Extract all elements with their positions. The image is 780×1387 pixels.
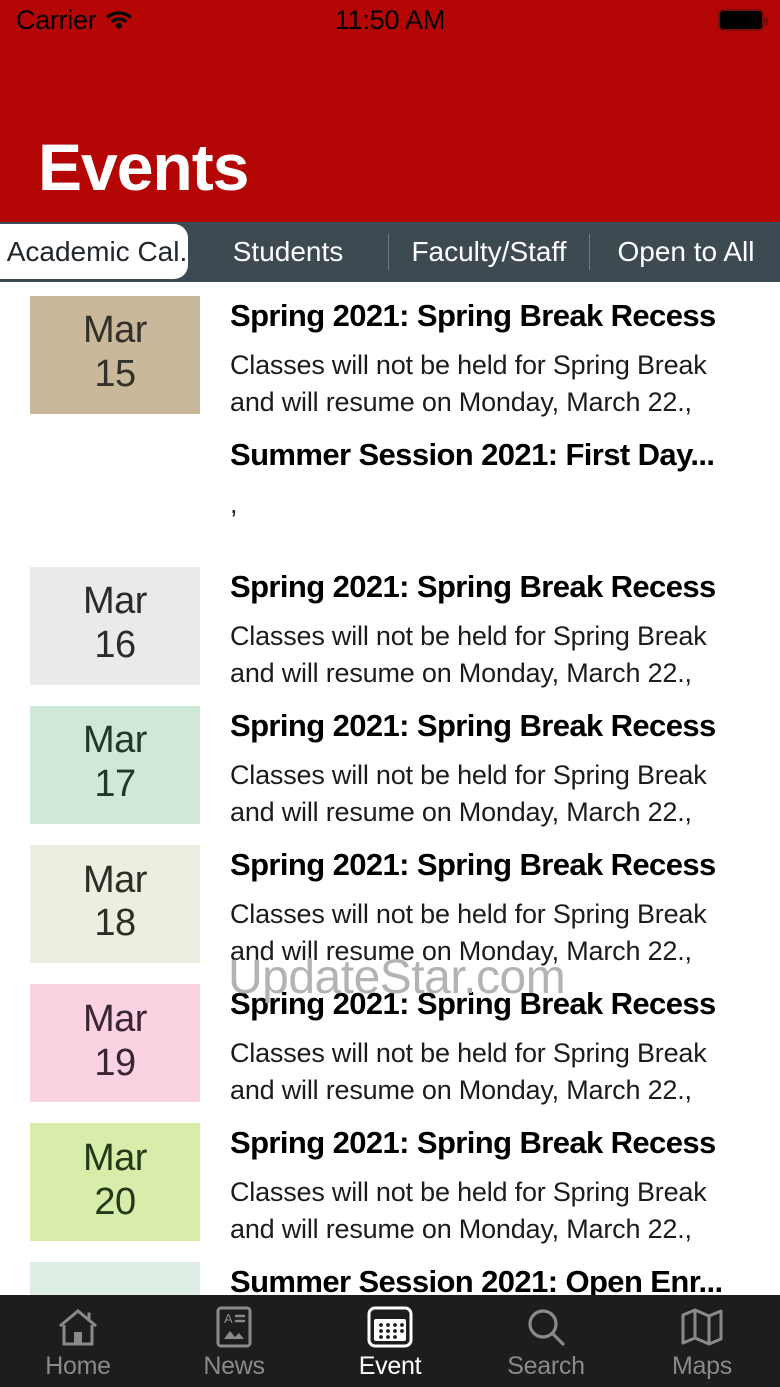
battery-full-icon: [718, 9, 764, 31]
event-date-month: Mar: [83, 721, 147, 761]
event-date-box: Mar 20: [30, 1123, 200, 1241]
status-bar-left: Carrier: [16, 7, 134, 34]
nav-item-event[interactable]: Event: [312, 1304, 468, 1379]
event-date-month: Mar: [83, 582, 147, 622]
page-title: Events: [38, 134, 248, 200]
event-title: Spring 2021: Spring Break Recess: [230, 569, 750, 606]
event-date-day: 18: [94, 900, 135, 948]
tab-students[interactable]: Students: [188, 222, 388, 282]
event-date-month: Mar: [83, 311, 147, 351]
nav-item-news[interactable]: A News: [156, 1304, 312, 1379]
event-title: Spring 2021: Spring Break Recess: [230, 847, 750, 884]
event-description: Classes will not be held for Spring Brea…: [230, 1035, 750, 1110]
event-description: Classes will not be held for Spring Brea…: [230, 618, 750, 693]
event-list-item[interactable]: Summer Session 2021: First Day... ,: [0, 421, 780, 553]
event-description: ,: [230, 486, 750, 523]
event-body: Spring 2021: Spring Break Recess Classes…: [230, 1123, 750, 1248]
event-title: Summer Session 2021: First Day...: [230, 437, 750, 474]
category-tab-bar: Academic Cal. Students Faculty/Staff Ope…: [0, 222, 780, 282]
calendar-icon: [367, 1304, 413, 1350]
nav-item-home-label: Home: [45, 1354, 111, 1379]
tab-faculty-staff-label: Faculty/Staff: [411, 236, 566, 268]
event-date-box: Mar 17: [30, 706, 200, 824]
nav-item-news-label: News: [203, 1354, 264, 1379]
event-body: Spring 2021: Spring Break Recess Classes…: [230, 706, 750, 831]
event-date-day: 15: [94, 351, 135, 399]
event-description: Classes will not be held for Spring Brea…: [230, 1174, 750, 1249]
event-title: Spring 2021: Spring Break Recess: [230, 1125, 750, 1162]
event-description: Classes will not be held for Spring Brea…: [230, 757, 750, 832]
event-date-box: Mar 16: [30, 567, 200, 685]
event-description: Classes will not be held for Spring Brea…: [230, 896, 750, 971]
event-body: Spring 2021: Spring Break Recess Classes…: [230, 984, 750, 1109]
event-list[interactable]: UpdateStar.com Mar 15 Spring 2021: Sprin…: [0, 282, 780, 1307]
app-screen: Carrier 11:50 AM Events Academic Cal. St…: [0, 0, 780, 1387]
wifi-icon: [104, 7, 134, 34]
event-date-day: 16: [94, 622, 135, 670]
page-header: Events: [0, 40, 780, 222]
tab-students-label: Students: [233, 236, 344, 268]
search-icon: [523, 1304, 569, 1350]
event-body: Spring 2021: Spring Break Recess Classes…: [230, 845, 750, 970]
nav-item-maps[interactable]: Maps: [624, 1304, 780, 1379]
svg-text:A: A: [224, 1311, 233, 1326]
status-bar-right: [718, 9, 764, 31]
carrier-label: Carrier: [16, 7, 96, 34]
event-title: Spring 2021: Spring Break Recess: [230, 986, 750, 1023]
event-date-day: 19: [94, 1040, 135, 1088]
news-icon: A: [211, 1304, 257, 1350]
event-date-month: Mar: [83, 1000, 147, 1040]
event-date-month: Mar: [83, 861, 147, 901]
map-icon: [679, 1304, 725, 1350]
nav-item-event-label: Event: [359, 1354, 421, 1379]
event-list-item[interactable]: Mar 15 Spring 2021: Spring Break Recess …: [0, 282, 780, 421]
event-body: Spring 2021: Spring Break Recess Classes…: [230, 567, 750, 692]
event-body: Summer Session 2021: First Day... ,: [230, 435, 750, 523]
tab-faculty-staff[interactable]: Faculty/Staff: [389, 222, 589, 282]
nav-item-home[interactable]: Home: [0, 1304, 156, 1379]
event-title: Spring 2021: Spring Break Recess: [230, 708, 750, 745]
event-list-item[interactable]: Mar 20 Spring 2021: Spring Break Recess …: [0, 1109, 780, 1248]
event-date-box: Mar 15: [30, 296, 200, 414]
event-body: Spring 2021: Spring Break Recess Classes…: [230, 296, 750, 421]
bottom-navigation-bar: Home A News: [0, 1295, 780, 1387]
event-title: Spring 2021: Spring Break Recess: [230, 298, 750, 335]
event-list-item[interactable]: Mar 18 Spring 2021: Spring Break Recess …: [0, 831, 780, 970]
nav-item-search-label: Search: [507, 1354, 584, 1379]
event-date-day: 20: [94, 1179, 135, 1227]
event-date-month: Mar: [83, 1139, 147, 1179]
tab-academic-cal-label: Academic Cal.: [7, 236, 188, 268]
event-date-box: [30, 435, 200, 553]
event-date-box: Mar 19: [30, 984, 200, 1102]
event-date-box: Mar 18: [30, 845, 200, 963]
nav-item-search[interactable]: Search: [468, 1304, 624, 1379]
tab-open-to-all[interactable]: Open to All: [590, 222, 780, 282]
event-description: Classes will not be held for Spring Brea…: [230, 347, 750, 422]
event-list-item[interactable]: Mar 19 Spring 2021: Spring Break Recess …: [0, 970, 780, 1109]
home-icon: [55, 1304, 101, 1350]
tab-academic-cal[interactable]: Academic Cal.: [0, 224, 188, 279]
nav-item-maps-label: Maps: [672, 1354, 732, 1379]
tab-open-to-all-label: Open to All: [618, 236, 755, 268]
status-bar: Carrier 11:50 AM: [0, 0, 780, 40]
event-date-day: 17: [94, 761, 135, 809]
event-list-item[interactable]: Mar 17 Spring 2021: Spring Break Recess …: [0, 692, 780, 831]
event-list-item[interactable]: Mar 16 Spring 2021: Spring Break Recess …: [0, 553, 780, 692]
